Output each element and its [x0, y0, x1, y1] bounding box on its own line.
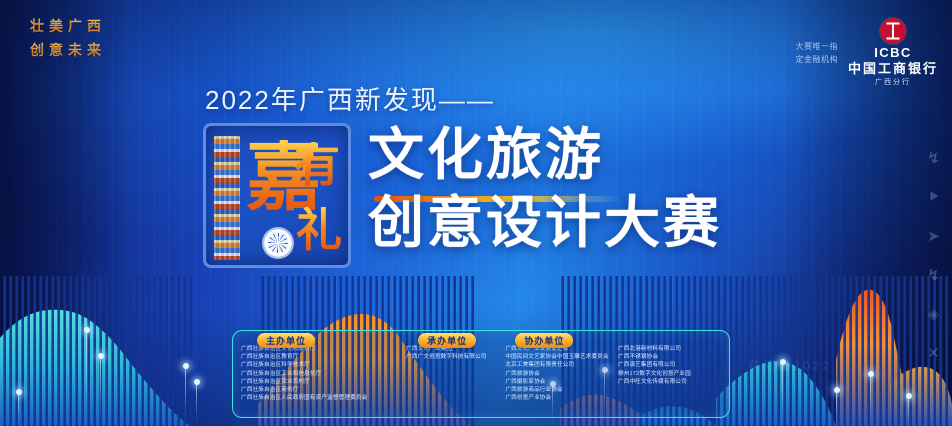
title-block: 2022年广西新发现—— 嘉 有 礼 文化旅游 创意设计大赛 — [0, 80, 952, 277]
list-item: 柳州172数字文化创意产业园 — [618, 370, 721, 378]
sponsor-note-line-1: 大赛唯一指 — [776, 40, 838, 53]
organizer-list-coorganizer: 广西文化产业发展促进会 中国民间文艺家协会中国玉雕艺术委员会 北京工美集团有限责… — [505, 345, 618, 402]
list-item: 广西广文创意数字科技有限公司 — [406, 353, 505, 361]
slogan-line-2: 创意未来 — [30, 38, 106, 62]
icbc-logo: ICBC 中国工商银行 广西分行 — [848, 18, 938, 88]
sponsor-note: 大赛唯一指 定金融机构 — [776, 40, 838, 66]
list-item: 广西壮族自治区商务厅 — [241, 386, 406, 394]
icbc-name-en: ICBC — [848, 46, 938, 60]
list-item: 广西壮族自治区科学技术厅 — [241, 361, 406, 369]
list-item: 广西中旺文化传媒有限公司 — [618, 378, 721, 386]
slogan-divider — [178, 14, 179, 80]
organizer-column-undertaker: 承办单位 广西文化产业集团 广西广文创意数字科技有限公司 — [406, 342, 505, 411]
sponsor-note-line-2: 定金融机构 — [776, 53, 838, 66]
sponsor-block: 大赛唯一指 定金融机构 ICBC 中国工商银行 广西分行 — [776, 18, 938, 88]
list-item: 广西壮族自治区人民政府国有资产监督管理委员会 — [241, 394, 406, 402]
watermark-text: 花间堂2022 — [748, 357, 832, 374]
ethnic-pattern-strip-icon — [214, 136, 240, 260]
slogan-line-1: 壮美广西 — [30, 14, 106, 38]
title-logo-row: 嘉 有 礼 文化旅游 创意设计大赛 — [0, 127, 952, 277]
competition-stamp-logo: 嘉 有 礼 — [203, 123, 351, 268]
list-item: 广西壮族自治区工业和信息化厅 — [241, 370, 406, 378]
list-item: 广西演艺集团有限公司 — [618, 361, 721, 369]
list-item: 广西壮族自治区农业农村厅 — [241, 378, 406, 386]
headline-line-2: 创意设计大赛 — [368, 189, 722, 257]
organizer-panel: 主办单位 广西壮族自治区文化和旅游厅 广西壮族自治区教育厅 广西壮族自治区科学技… — [232, 330, 730, 418]
poster-canvas: 花间堂2022 壮美广西 创意未来 大赛唯一指 定金融机构 ICBC 中国工商银… — [0, 0, 952, 426]
stamp-char-3: 礼 — [296, 207, 342, 253]
rune-glyph-icon: ◈ — [925, 306, 942, 323]
list-item: 广西创意产业协会 — [505, 394, 618, 402]
list-item: 广西旅游商品行业协会 — [505, 386, 618, 394]
organizer-list-coorganizer-2: 广西北港新材料有限公司 广西不锈钢协会 广西演艺集团有限公司 柳州172数字文化… — [618, 345, 721, 386]
list-item: 广西旅游协会 — [505, 370, 618, 378]
title-headline: 文化旅游 创意设计大赛 — [368, 121, 722, 257]
slogan-block: 壮美广西 创意未来 — [30, 14, 106, 62]
organizer-column-coorganizer-2: 广西北港新材料有限公司 广西不锈钢协会 广西演艺集团有限公司 柳州172数字文化… — [618, 342, 721, 411]
list-item: 北京工美集团有限责任公司 — [505, 361, 618, 369]
icbc-name-cn: 中国工商银行 — [848, 60, 938, 77]
icbc-emblem-icon — [880, 18, 906, 44]
list-item: 广西北港新材料有限公司 — [618, 345, 721, 353]
stamp-char-2: 有 — [294, 142, 340, 188]
organizer-column-coorganizer: 协办单位 广西文化产业发展促进会 中国民间文艺家协会中国玉雕艺术委员会 北京工美… — [505, 342, 618, 411]
list-item: 广西壮族自治区教育厅 — [241, 353, 406, 361]
organizer-column-host: 主办单位 广西壮族自治区文化和旅游厅 广西壮族自治区教育厅 广西壮族自治区科学技… — [241, 342, 406, 411]
sun-wheel-icon — [264, 229, 292, 257]
organizer-list-host: 广西壮族自治区文化和旅游厅 广西壮族自治区教育厅 广西壮族自治区科学技术厅 广西… — [241, 345, 406, 402]
list-item: 广西摄影家协会 — [505, 378, 618, 386]
rune-glyph-icon: ✕ — [925, 345, 942, 362]
list-item: 广西不锈钢协会 — [618, 353, 721, 361]
organizer-label-host: 主办单位 — [257, 333, 315, 348]
organizer-label-undertaker: 承办单位 — [418, 333, 476, 348]
icbc-branch: 广西分行 — [848, 77, 938, 88]
list-item: 中国民间文艺家协会中国玉雕艺术委员会 — [505, 353, 618, 361]
organizer-label-coorganizer: 协办单位 — [515, 333, 573, 348]
headline-line-1: 文化旅游 — [368, 123, 604, 186]
